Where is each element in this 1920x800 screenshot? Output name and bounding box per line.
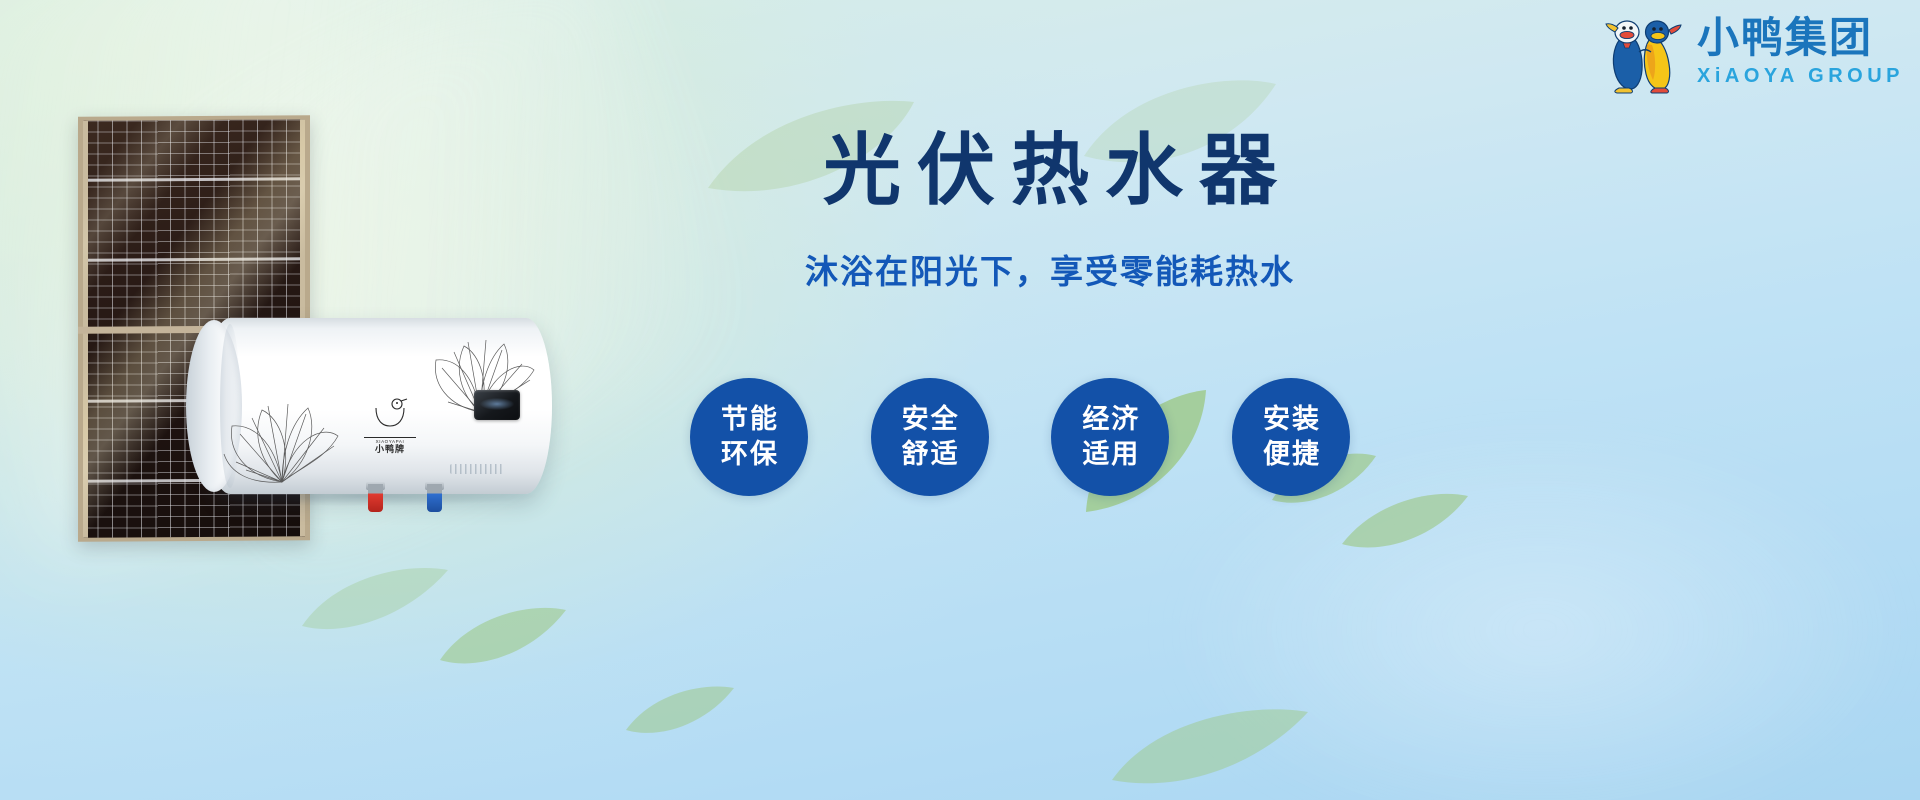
badge-line-1: 经济 [1080, 402, 1140, 437]
badge-line-2: 舒适 [900, 437, 960, 472]
brand-logo: 小鸭集团 XiAOYA GROUP [1601, 8, 1904, 94]
duck-mascots-icon [1601, 8, 1687, 94]
badge-line-2: 环保 [719, 437, 779, 472]
leaf-icon [624, 680, 736, 742]
tank-vent-grille [450, 464, 504, 474]
tank-cap-edge [220, 324, 240, 488]
display-glow [480, 398, 514, 410]
brand-name-en: XiAOYA GROUP [1697, 66, 1904, 86]
feature-badge-row: 节能 环保 安全 舒适 经济 适用 安装 便捷 [690, 378, 1350, 496]
badge-line-2: 便捷 [1261, 437, 1321, 472]
feature-badge-safety[interactable]: 安全 舒适 [871, 378, 989, 496]
hot-water-pipe [368, 484, 383, 512]
badge-line-1: 安装 [1261, 402, 1321, 437]
feature-badge-installation[interactable]: 安装 便捷 [1232, 378, 1350, 496]
tank-highlight [302, 377, 383, 396]
leaf-icon [438, 600, 568, 672]
page-title: 光伏热水器 [700, 128, 1400, 214]
promo-banner: 小鸭集团 XiAOYA GROUP [0, 0, 1920, 800]
feature-badge-energy-saving[interactable]: 节能 环保 [690, 378, 808, 496]
tank-brand-cn: 小鸭牌 [364, 445, 416, 454]
feature-badge-economy[interactable]: 经济 适用 [1051, 378, 1169, 496]
duck-outline-icon [370, 396, 410, 430]
brand-wordmark: 小鸭集团 XiAOYA GROUP [1697, 17, 1904, 86]
badge-line-1: 安全 [900, 402, 960, 437]
cold-water-pipe [427, 484, 442, 512]
tank-brand-mark: XIAOYAPAI 小鸭牌 [364, 396, 416, 454]
copy-block: 光伏热水器 沐浴在阳光下，享受零能耗热水 [700, 128, 1400, 291]
page-subtitle: 沐浴在阳光下，享受零能耗热水 [700, 252, 1400, 292]
leaf-icon [1110, 700, 1310, 796]
brand-name-cn: 小鸭集团 [1697, 17, 1873, 59]
digital-display-panel[interactable] [474, 390, 520, 420]
badge-line-2: 适用 [1080, 437, 1140, 472]
badge-line-1: 节能 [719, 402, 779, 437]
electric-water-heater-tank: XIAOYAPAI 小鸭牌 [182, 318, 552, 494]
leaf-icon [300, 560, 450, 640]
leaf-icon [1340, 486, 1470, 556]
